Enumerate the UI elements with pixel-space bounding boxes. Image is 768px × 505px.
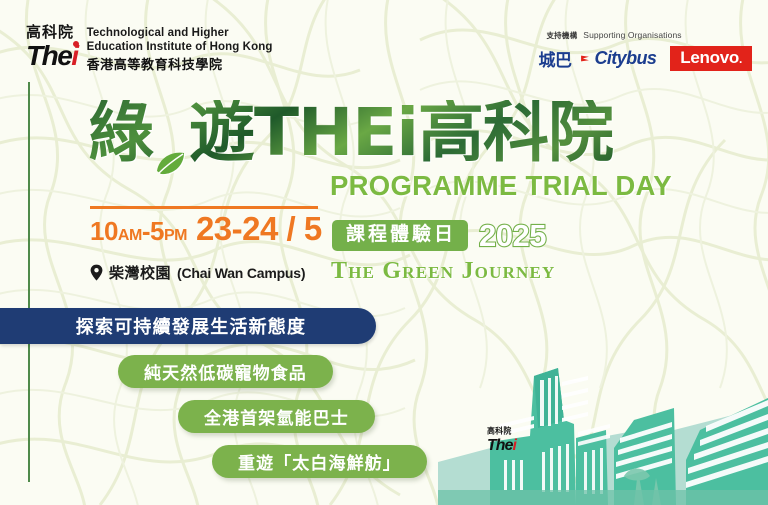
sponsors-caption: 支持機構 Supporting Organisations	[546, 30, 681, 41]
institution-logo-dot	[73, 41, 79, 47]
campus-logo-wordmark-accent: i	[513, 436, 517, 454]
event-year: 2025	[479, 220, 546, 251]
poster-canvas: 高科院 Thei Technological and Higher Educat…	[0, 0, 768, 505]
highlight-pill-2: 全港首架氫能巴士	[178, 400, 375, 433]
sponsors-caption-en: Supporting Organisations	[583, 30, 681, 40]
venue-name-cn: 柴灣校園	[109, 262, 171, 283]
highlight-pill-3: 重遊「太白海鮮舫」	[212, 445, 427, 478]
citybus-name-en: Citybus	[594, 48, 656, 69]
hero-title-brand: THEi	[254, 100, 418, 166]
campus-logo-wordmark: Thei	[487, 437, 516, 453]
lenovo-dot: .	[739, 52, 742, 66]
sponsor-logo-citybus: 城巴 Citybus	[538, 46, 656, 71]
highlight-pill-1-text: 純天然低碳寵物食品	[144, 359, 307, 384]
sponsor-logos: 城巴 Citybus Lenovo.	[538, 46, 752, 71]
institution-logo-cn-short: 高科院	[26, 25, 74, 40]
event-time-sep: -5	[142, 216, 164, 246]
hero-tagline-en: The Green Journey	[331, 258, 556, 285]
datetime-rule	[90, 206, 318, 209]
hero-title-cn-part3: 高科院	[418, 100, 613, 166]
campus-logo-wordmark-plain: The	[487, 436, 513, 454]
leaf-dot-icon	[153, 124, 187, 154]
sponsors-caption-cn: 支持機構	[546, 30, 577, 41]
highlight-pill-2-text: 全港首架氫能巴士	[204, 404, 349, 429]
institution-name-cn-full: 香港高等教育科技學院	[87, 58, 273, 74]
institution-logo: 高科院 Thei Technological and Higher Educat…	[26, 25, 272, 74]
institution-logo-wordmark-plain: The	[26, 40, 71, 71]
campus-building-logo: 高科院 Thei	[487, 428, 516, 453]
course-trial-badge: 課程體驗日	[332, 220, 468, 251]
venue-name-en: (Chai Wan Campus)	[177, 265, 305, 281]
institution-logo-wordmark: Thei	[26, 42, 78, 70]
institution-name-en-line2: Education Institute of Hong Kong	[87, 40, 273, 54]
datetime-line: 10AM-5PM 23-24 / 5	[90, 212, 322, 245]
event-time-am: AM	[118, 227, 142, 244]
event-time-pm: PM	[164, 227, 187, 244]
course-badge-row: 課程體驗日 2025	[332, 220, 546, 251]
campus-logo-cn: 高科院	[487, 428, 516, 436]
institution-name-en-line1: Technological and Higher	[87, 26, 273, 40]
event-time: 10AM-5PM	[90, 218, 187, 244]
event-venue: 柴灣校園 (Chai Wan Campus)	[90, 262, 305, 283]
theme-banner: 探索可持續發展生活新態度	[0, 308, 376, 344]
citybus-name-cn: 城巴	[538, 46, 571, 71]
poster-header: 高科院 Thei Technological and Higher Educat…	[0, 0, 768, 86]
highlight-pill-3-text: 重遊「太白海鮮舫」	[238, 449, 401, 474]
institution-name-block: Technological and Higher Education Insti…	[87, 25, 273, 74]
citybus-mark-icon	[574, 50, 591, 67]
vertical-accent-rule	[28, 82, 30, 482]
highlight-pill-1: 純天然低碳寵物食品	[118, 355, 333, 388]
sponsor-logo-lenovo: Lenovo.	[670, 46, 752, 71]
sponsors-block: 支持機構 Supporting Organisations 城巴 Citybus…	[538, 30, 752, 71]
hero-title: 綠 遊 THEi 高科院	[88, 100, 613, 166]
lenovo-name: Lenovo	[680, 48, 739, 67]
campus-building-illustration	[438, 320, 768, 505]
event-time-start-hour: 10	[90, 216, 118, 246]
hero-title-cn-part2: 遊	[189, 100, 254, 166]
hero-title-cn-part1: 綠	[88, 100, 153, 166]
event-datetime: 10AM-5PM 23-24 / 5	[90, 206, 322, 245]
theme-banner-text: 探索可持續發展生活新態度	[76, 313, 306, 339]
event-date: 23-24 / 5	[196, 212, 322, 245]
location-pin-icon	[90, 264, 103, 281]
hero-subtitle-en: PROGRAMME TRIAL DAY	[330, 170, 672, 202]
institution-logo-mark: 高科院 Thei	[26, 25, 78, 70]
